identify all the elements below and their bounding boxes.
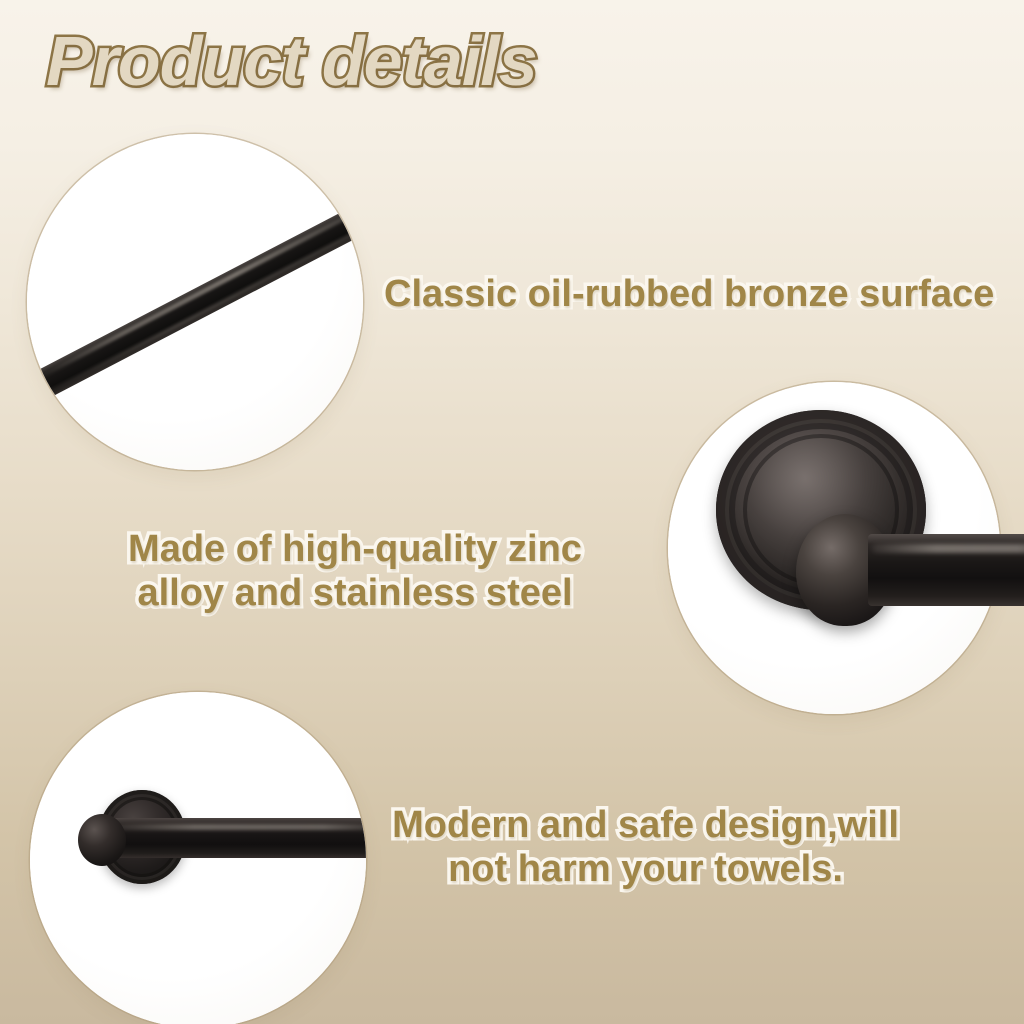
feature-photo-finish	[27, 134, 363, 470]
feature-caption-material: Made of high-quality zinc alloy and stai…	[100, 527, 610, 615]
feature-caption-design: Modern and safe design,will not harm you…	[388, 803, 903, 891]
bronze-rod-horizontal	[868, 534, 1024, 606]
product-details-poster: Product details Classic oil-rubbed bronz…	[0, 0, 1024, 1024]
feature-caption-finish: Classic oil-rubbed bronze surface	[384, 272, 994, 316]
feature-photo-material	[668, 382, 1000, 714]
photo-backdrop	[30, 692, 366, 1024]
towel-bar	[108, 818, 366, 858]
page-title: Product details	[46, 26, 537, 96]
feature-photo-design	[30, 692, 366, 1024]
ball-end-cap	[78, 814, 126, 866]
